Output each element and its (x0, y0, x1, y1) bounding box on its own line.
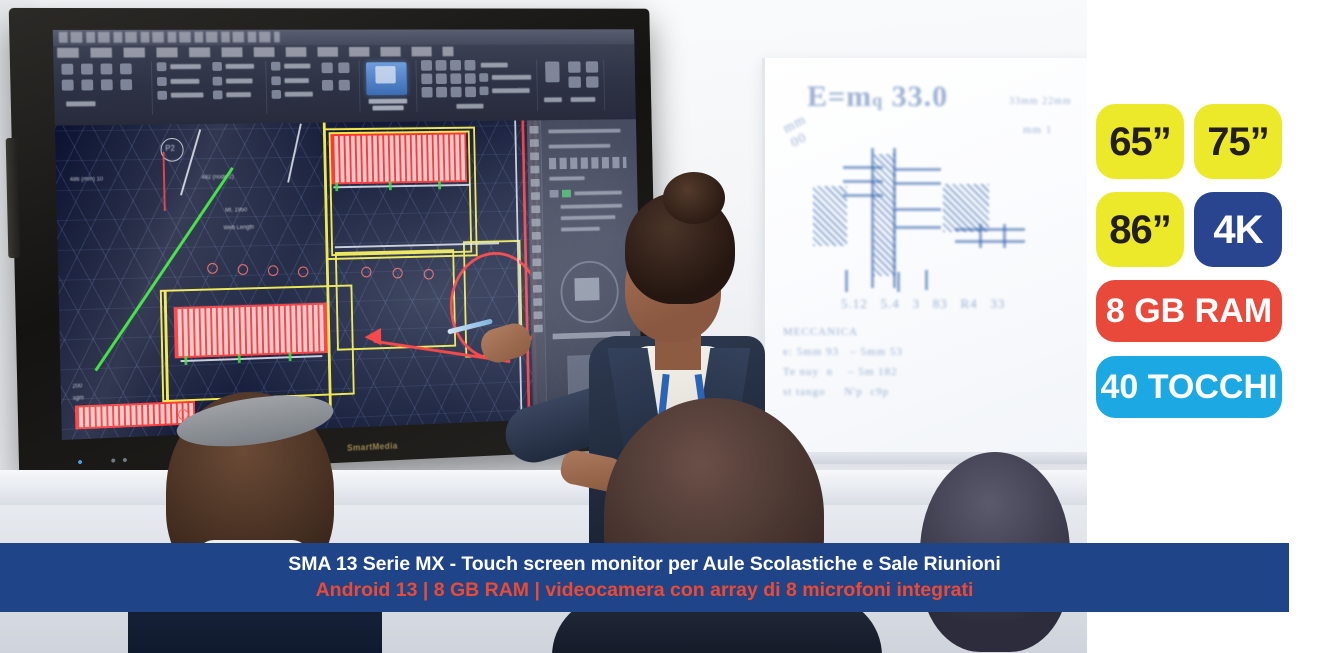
spec-badge-column: 65” 75” 86” 4K 8 GB RAM 40 TOCCHI (1096, 104, 1296, 432)
ribbon-group-layer-properties[interactable] (362, 60, 417, 112)
ribbon-group-annotate[interactable] (269, 60, 361, 113)
caption-line-1: SMA 13 Serie MX - Touch screen monitor p… (288, 553, 1000, 577)
ribbon-group-modify[interactable] (155, 61, 268, 115)
badge-65-inch: 65” (1096, 104, 1184, 179)
badge-row-2: 86” 4K (1096, 192, 1296, 267)
ribbon-group-layers[interactable] (419, 60, 538, 112)
caption-line-2: Android 13 | 8 GB RAM | videocamera con … (316, 579, 974, 603)
badge-touch-points: 40 TOCCHI (1096, 356, 1282, 418)
promo-banner-image: E=mq 33.0 mm00 33mm 22mm mm 1 5.12 (0, 0, 1322, 653)
cad-ribbon-tabs[interactable] (57, 47, 453, 58)
caption-description: - Touch screen monitor per Aule Scolasti… (444, 553, 1000, 575)
ribbon-group-blocks[interactable] (540, 59, 605, 110)
badge-86-inch: 86” (1096, 192, 1184, 267)
whiteboard: E=mq 33.0 mm00 33mm 22mm mm 1 5.12 (762, 58, 1087, 458)
cad-title-text (59, 32, 280, 43)
ribbon-group-draw[interactable] (57, 61, 153, 115)
bottom-caption-banner: SMA 13 Serie MX - Touch screen monitor p… (0, 543, 1289, 612)
caption-specs-rest: videocamera con array di 8 microfoni int… (540, 579, 973, 601)
badge-row-1: 65” 75” (1096, 104, 1296, 179)
presenter-hair-bun (663, 172, 725, 224)
cad-ribbon (53, 29, 636, 125)
badge-4k: 4K (1194, 192, 1282, 267)
caption-specs-highlight: Android 13 | 8 GB RAM | (316, 579, 540, 601)
annotation-arrow-head (364, 328, 381, 346)
badge-75-inch: 75” (1194, 104, 1282, 179)
caption-model-name: SMA 13 Serie MX (288, 553, 444, 575)
badge-ram: 8 GB RAM (1096, 280, 1282, 342)
